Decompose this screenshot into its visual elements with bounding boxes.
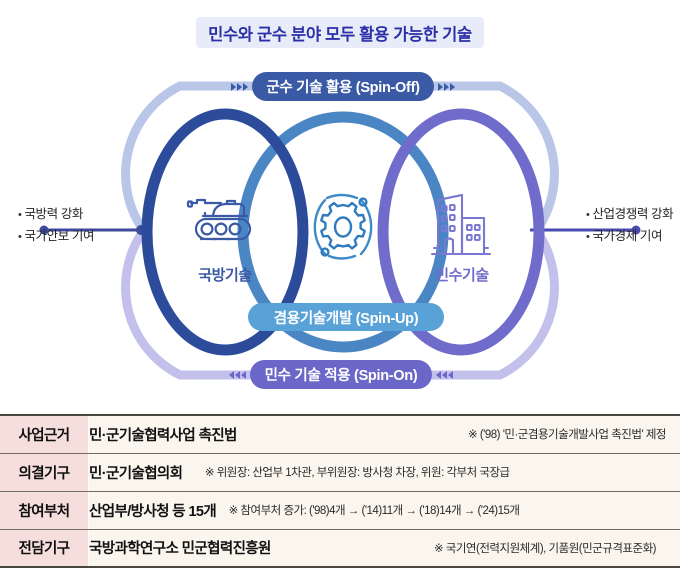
right-outcomes-list: • 산업경쟁력 강화 • 국가경제 기여 xyxy=(586,204,673,248)
spin-on-pill: 민수 기술 적용 (Spin-On) xyxy=(250,360,432,389)
dual-use-technology-diagram: 민수와 군수 분야 모두 활용 가능한 기술 군수 기술 활용 (Spin-Of… xyxy=(0,0,680,410)
table-row: 사업근거 민·군기술협력사업 촉진법 ※ ('98) '민·군겸용기술개발사업 … xyxy=(0,415,680,453)
row-value-text: 국방과학연구소 민군협력진흥원 xyxy=(89,537,271,558)
row-value-text: 민·군기술협력사업 촉진법 xyxy=(89,424,237,445)
spin-off-chevrons-right xyxy=(438,83,455,91)
table-row: 참여부처 산업부/방사청 등 15개 ※ 참여부처 증가: ('98)4개 → … xyxy=(0,491,680,529)
spin-off-chevrons-left xyxy=(231,83,248,91)
diagram-title-pill: 민수와 군수 분야 모두 활용 가능한 기술 xyxy=(196,17,484,48)
list-item: • 산업경쟁력 강화 xyxy=(586,204,673,226)
table-row: 전담기구 국방과학연구소 민군협력진흥원 ※ 국기연(전력지원체계), 기품원(… xyxy=(0,529,680,567)
bullet-dot-icon: • xyxy=(586,227,589,248)
infographic-page: 민수와 군수 분야 모두 활용 가능한 기술 군수 기술 활용 (Spin-Of… xyxy=(0,0,680,581)
row-key-legal-basis: 사업근거 xyxy=(0,415,89,453)
spin-up-pill: 겸용기술개발 (Spin-Up) xyxy=(248,303,444,331)
row-value-decision-body: 민·군기술협의회 ※ 위원장: 산업부 1차관, 부위원장: 방사청 차장, 위… xyxy=(89,453,680,491)
row-key-dedicated-org: 전담기구 xyxy=(0,529,89,567)
row-value-legal-basis: 민·군기술협력사업 촉진법 ※ ('98) '민·군겸용기술개발사업 촉진법' … xyxy=(89,415,680,453)
node-label-civil-technology: 민수기술 xyxy=(417,264,507,285)
row-note-text: ※ 위원장: 산업부 1차관, 부위원장: 방사청 차장, 위원: 각부처 국장… xyxy=(205,464,510,480)
spin-on-chevrons-right xyxy=(436,371,453,379)
left-outcomes-list: • 국방력 강화 • 국가안보 기여 xyxy=(18,204,94,248)
node-label-defense-technology: 국방기술 xyxy=(180,264,270,285)
row-value-text: 민·군기술협의회 xyxy=(89,462,182,483)
bullet-dot-icon: • xyxy=(586,205,589,226)
row-note-text: ※ 국기연(전력지원체계), 기품원(민군규격표준화) xyxy=(434,540,656,556)
list-item: • 국가안보 기여 xyxy=(18,226,94,248)
right-outcome-1: 국가경제 기여 xyxy=(592,226,662,247)
left-outcome-0: 국방력 강화 xyxy=(24,204,83,225)
row-note-text: ※ 참여부처 증가: ('98)4개 → ('14)11개 → ('18)14개… xyxy=(229,502,520,518)
bullet-dot-icon: • xyxy=(18,227,21,248)
spin-off-pill: 군수 기술 활용 (Spin-Off) xyxy=(252,72,434,101)
list-item: • 국방력 강화 xyxy=(18,204,94,226)
row-key-decision-body: 의결기구 xyxy=(0,453,89,491)
row-value-dedicated-org: 국방과학연구소 민군협력진흥원 ※ 국기연(전력지원체계), 기품원(민군규격표… xyxy=(89,529,680,567)
list-item: • 국가경제 기여 xyxy=(586,226,673,248)
right-outcome-0: 산업경쟁력 강화 xyxy=(592,204,673,225)
left-outcome-1: 국가안보 기여 xyxy=(24,226,94,247)
row-key-participating-ministries: 참여부처 xyxy=(0,491,89,529)
spin-on-chevrons-left xyxy=(229,371,246,379)
program-info-table: 사업근거 민·군기술협력사업 촉진법 ※ ('98) '민·군겸용기술개발사업 … xyxy=(0,414,680,568)
row-value-participating-ministries: 산업부/방사청 등 15개 ※ 참여부처 증가: ('98)4개 → ('14)… xyxy=(89,491,680,529)
table-row: 의결기구 민·군기술협의회 ※ 위원장: 산업부 1차관, 부위원장: 방사청 … xyxy=(0,453,680,491)
bullet-dot-icon: • xyxy=(18,205,21,226)
row-note-text: ※ ('98) '민·군겸용기술개발사업 촉진법' 제정 xyxy=(468,426,666,442)
row-value-text: 산업부/방사청 등 15개 xyxy=(89,500,216,521)
